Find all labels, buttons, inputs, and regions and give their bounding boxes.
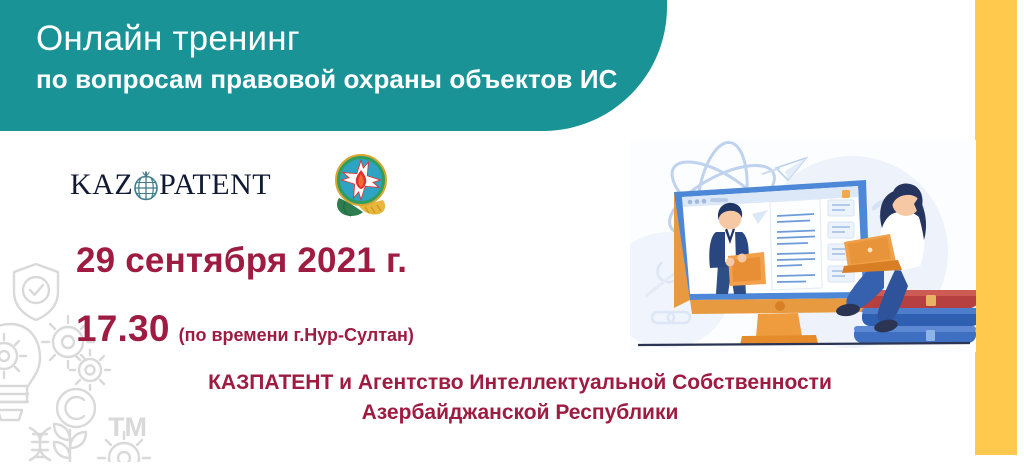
globe-icon: [133, 171, 159, 201]
svg-text:TM: TM: [108, 412, 147, 442]
azerbaijan-state-emblem: [329, 150, 393, 220]
lightbulb-gear-icon: [0, 324, 40, 420]
gear-bottom-icon: [98, 432, 150, 462]
online-training-illustration: [630, 140, 976, 352]
event-timezone-note: (по времени г.Нур-Султан): [179, 325, 414, 346]
organizers-caption-line2: Азербайджанской Республики: [150, 398, 890, 428]
organizers-caption-line1: КАЗПАТЕНТ и Агентство Интеллектуальной С…: [150, 368, 890, 398]
kazpatent-logo: KAZ PATENT: [70, 168, 271, 202]
right-accent-bar: [975, 0, 1017, 455]
dna-icon: [30, 428, 50, 460]
gear-small-icon: [70, 350, 110, 390]
logo-row: KAZ PATENT: [70, 150, 393, 220]
organizers-caption: КАЗПАТЕНТ и Агентство Интеллектуальной С…: [150, 368, 890, 428]
page-subtitle: по вопросам правовой охраны объектов ИС: [36, 63, 667, 96]
copyright-icon: [57, 389, 95, 427]
trademark-icon: TM: [108, 412, 147, 442]
event-time: 17.30: [76, 308, 170, 350]
shield-check-icon: [14, 264, 58, 320]
kazpatent-logo-text-before: KAZ: [70, 168, 133, 202]
event-time-row: 17.30 (по времени г.Нур-Султан): [76, 308, 414, 350]
header-banner: Онлайн тренинг по вопросам правовой охра…: [0, 0, 667, 131]
kazpatent-logo-text-after: PATENT: [159, 168, 271, 202]
watermark-icon-field: TM: [0, 252, 188, 462]
event-date: 29 сентября 2021 г.: [76, 241, 407, 281]
page-title: Онлайн тренинг: [36, 18, 667, 59]
plant-icon: [54, 424, 86, 462]
